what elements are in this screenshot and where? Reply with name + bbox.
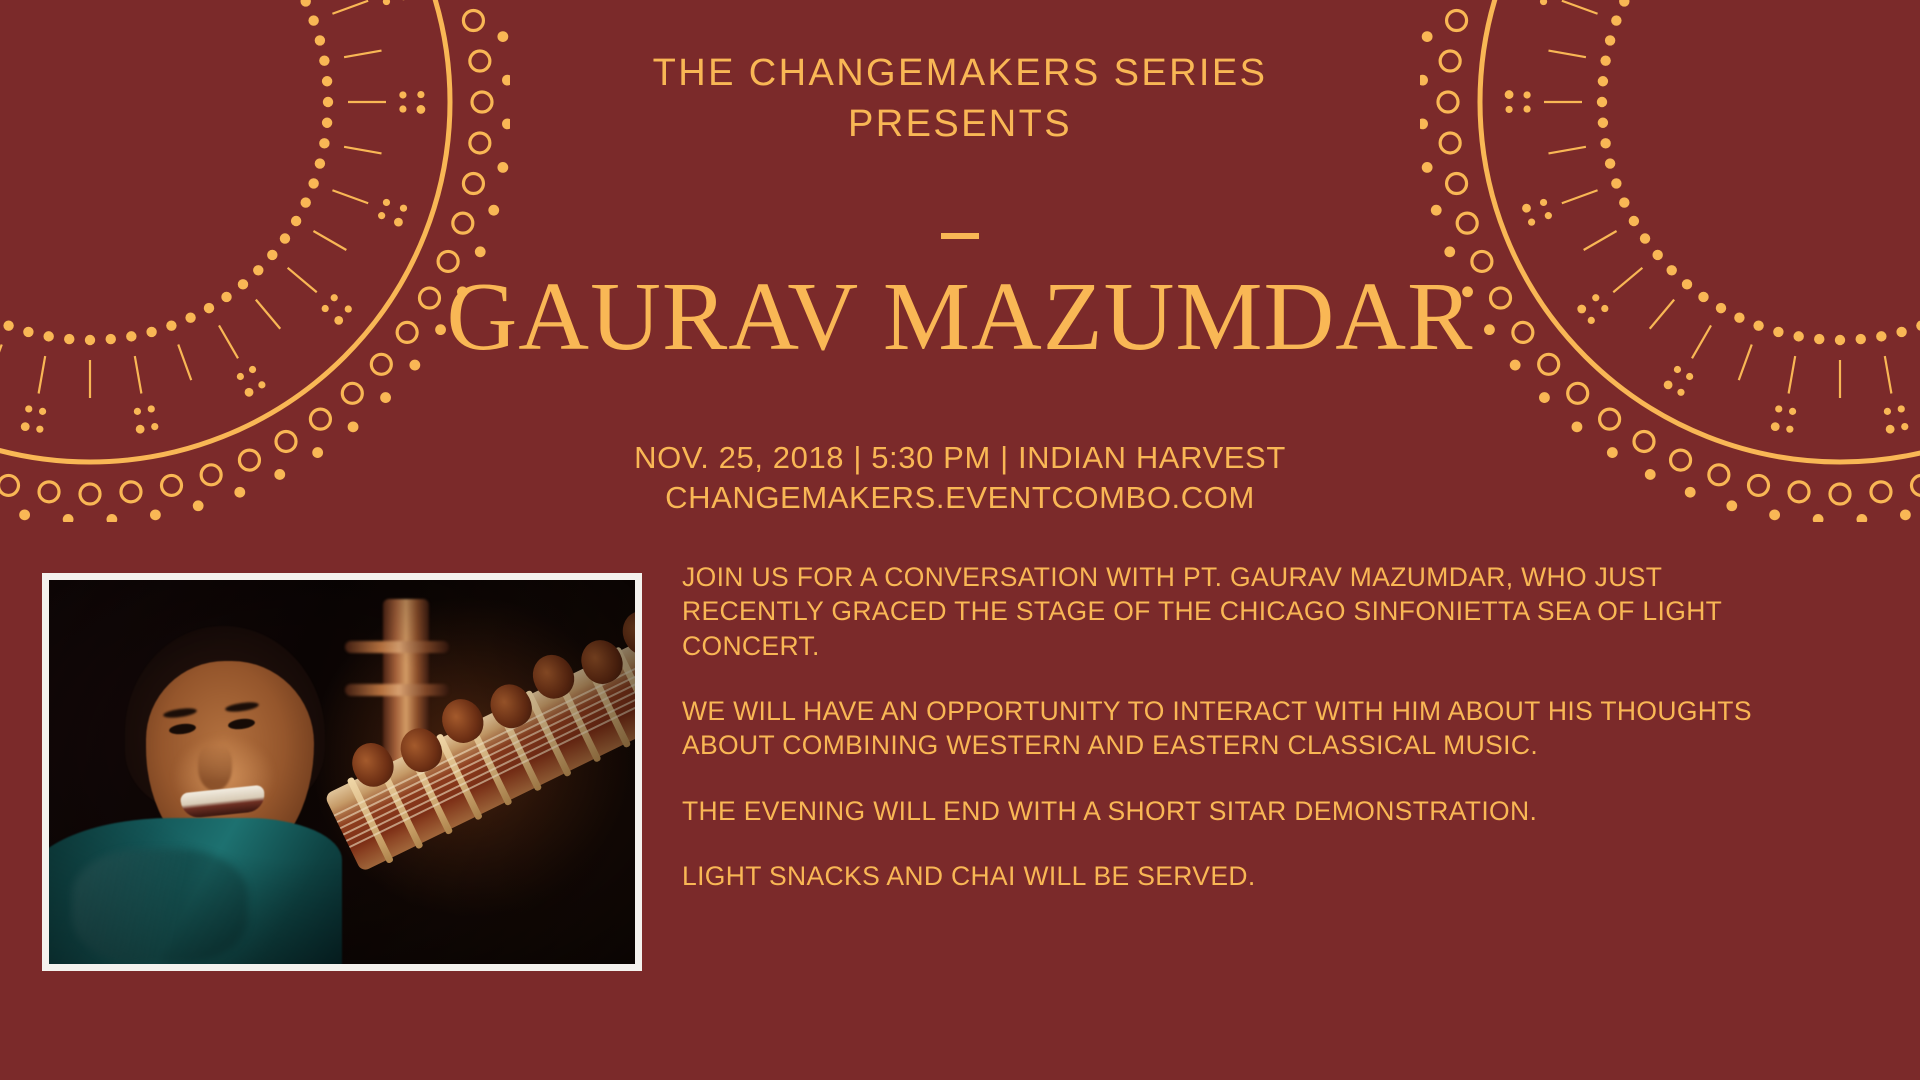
divider-rule: [941, 233, 979, 239]
event-details: NOV. 25, 2018 | 5:30 PM | INDIAN HARVEST…: [0, 438, 1920, 517]
speaker-photo: [49, 580, 635, 964]
event-url[interactable]: CHANGEMAKERS.EVENTCOMBO.COM: [0, 478, 1920, 518]
header-divider: [0, 226, 1920, 244]
description-paragraph: WE WILL HAVE AN OPPORTUNITY TO INTERACT …: [682, 694, 1802, 763]
series-kicker: THE CHANGEMAKERS SERIES PRESENTS: [580, 48, 1340, 149]
event-details-line: NOV. 25, 2018 | 5:30 PM | INDIAN HARVEST: [0, 438, 1920, 478]
description-paragraph: THE EVENING WILL END WITH A SHORT SITAR …: [682, 794, 1802, 828]
description-paragraph: JOIN US FOR A CONVERSATION WITH PT. GAUR…: [682, 560, 1802, 663]
event-poster: THE CHANGEMAKERS SERIES PRESENTS GAURAV …: [0, 0, 1920, 1080]
description-paragraph: LIGHT SNACKS AND CHAI WILL BE SERVED.: [682, 859, 1802, 893]
photo-vignette: [49, 580, 635, 964]
event-description: JOIN US FOR A CONVERSATION WITH PT. GAUR…: [682, 560, 1802, 893]
poster-header: THE CHANGEMAKERS SERIES PRESENTS: [0, 48, 1920, 149]
page-title: GAURAV MAZUMDAR: [0, 268, 1920, 366]
speaker-photo-frame: [42, 573, 642, 971]
